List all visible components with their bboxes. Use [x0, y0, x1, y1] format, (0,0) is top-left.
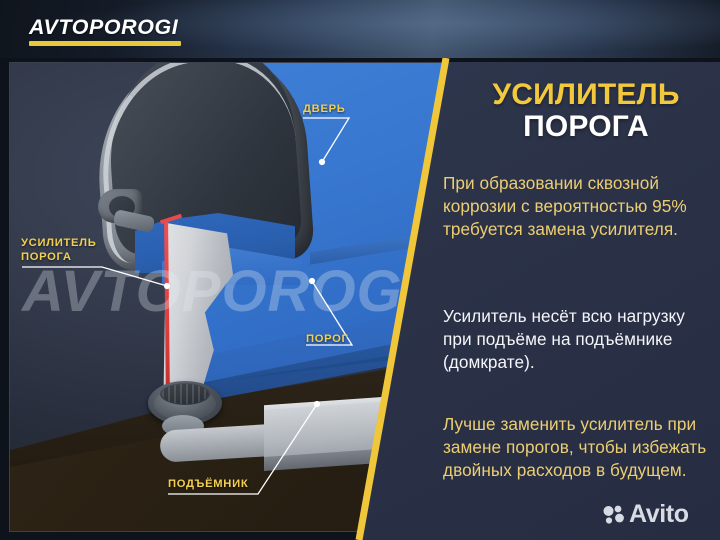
- brand-logo[interactable]: AVTOPOROGI: [29, 17, 181, 46]
- callout-sill: ПОРОГ: [306, 333, 349, 345]
- brand-logo-text: AVTOPOROGI: [29, 17, 184, 38]
- promo-image-root: AVTOPOROGI: [0, 0, 720, 540]
- paragraph-load: Усилитель несёт всю нагрузку при подъёме…: [443, 305, 715, 374]
- callout-reinforcement-line2: ПОРОГА: [21, 251, 96, 265]
- avito-logo[interactable]: Avito: [602, 502, 689, 527]
- brand-logo-underline: [29, 41, 181, 46]
- page-title-line2: ПОРОГА: [462, 111, 710, 143]
- callout-reinforcement-line1: УСИЛИТЕЛЬ: [21, 237, 96, 251]
- page-title: УСИЛИТЕЛЬ ПОРОГА: [462, 79, 710, 143]
- page-title-line1: УСИЛИТЕЛЬ: [462, 79, 710, 111]
- header-bar: AVTOPOROGI: [0, 0, 720, 58]
- avito-dots-icon: [602, 503, 626, 527]
- callout-reinforcement: УСИЛИТЕЛЬ ПОРОГА: [21, 237, 96, 264]
- callout-lift: ПОДЪЁМНИК: [168, 478, 248, 490]
- callout-door: ДВЕРЬ: [303, 103, 346, 115]
- paragraph-advice: Лучше заменить усилитель при замене поро…: [443, 413, 715, 482]
- lift-pad-grooves: [162, 384, 208, 404]
- avito-wordmark: Avito: [629, 502, 689, 527]
- paragraph-corrosion: При образовании сквозной коррозии с веро…: [443, 172, 715, 241]
